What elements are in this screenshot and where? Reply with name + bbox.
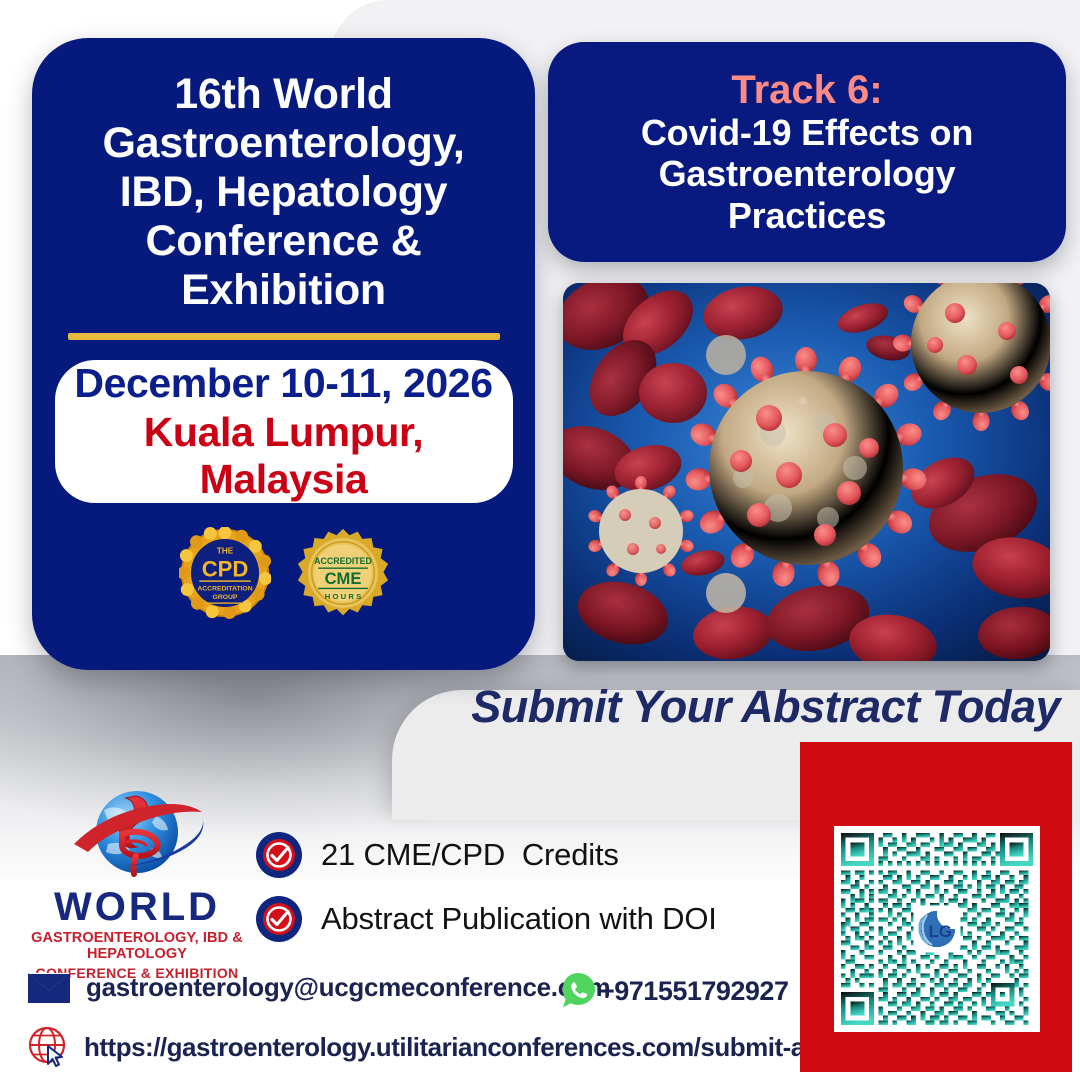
svg-text:H O U R S: H O U R S (324, 592, 360, 601)
website-url: https://gastroenterology.utilitarianconf… (84, 1032, 888, 1063)
email-address: gastroenterology@ucgcmeconference.com (86, 972, 610, 1003)
globe-cursor-icon (28, 1026, 70, 1068)
feature-label: 21 CME/CPD Credits (321, 837, 619, 873)
check-circle-icon (255, 895, 303, 943)
svg-text:LG: LG (929, 922, 952, 941)
svg-text:GROUP: GROUP (212, 594, 237, 601)
submit-abstract-cta: Submit Your Abstract Today (440, 678, 1060, 736)
globe-stomach-icon (64, 782, 210, 890)
check-circle-icon (255, 831, 303, 879)
conference-main-card: 16th World Gastroenterology, IBD, Hepato… (32, 38, 535, 670)
track-number-label: Track 6: (562, 68, 1052, 112)
logo-wordmark: WORLD (14, 888, 260, 927)
gold-divider (68, 333, 500, 340)
qr-code-graphic: LG (841, 833, 1033, 1025)
qr-code[interactable]: LG (834, 826, 1040, 1032)
conference-location: Kuala Lumpur, Malaysia (55, 409, 513, 503)
svg-text:THE: THE (216, 547, 233, 556)
conference-date: December 10-11, 2026 (74, 360, 492, 407)
whatsapp-icon (560, 972, 596, 1010)
feature-label: Abstract Publication with DOI (321, 901, 717, 937)
phone-contact[interactable]: +971551792927 (560, 972, 788, 1010)
virus-image (563, 283, 1050, 661)
cme-hours-badge: ACCREDITED CME H O U R S (297, 527, 389, 619)
qr-panel: LG (800, 742, 1072, 1072)
phone-number: +971551792927 (599, 976, 788, 1007)
date-location-card: December 10-11, 2026 Kuala Lumpur, Malay… (55, 360, 513, 503)
svg-text:CME: CME (324, 569, 361, 588)
track-title: Covid-19 Effects on Gastroenterology Pra… (562, 112, 1052, 235)
envelope-icon (28, 973, 70, 1003)
list-item: Abstract Publication with DOI (255, 887, 717, 951)
website-contact[interactable]: https://gastroenterology.utilitarianconf… (28, 1026, 888, 1068)
logo-subtitle-primary: GASTROENTEROLOGY, IBD & HEPATOLOGY (14, 930, 260, 962)
accreditation-badges: THE CPD ACCREDITATION GROUP ACCREDITED (54, 527, 513, 619)
feature-list: 21 CME/CPD Credits Abstract Publication … (255, 823, 717, 951)
email-contact[interactable]: gastroenterology@ucgcmeconference.com (28, 972, 610, 1003)
organization-logo: WORLD GASTROENTEROLOGY, IBD & HEPATOLOGY… (14, 782, 260, 960)
svg-text:CPD: CPD (201, 557, 248, 582)
list-item: 21 CME/CPD Credits (255, 823, 717, 887)
track-card: Track 6: Covid-19 Effects on Gastroenter… (548, 42, 1066, 262)
svg-text:ACCREDITATION: ACCREDITATION (197, 586, 252, 593)
svg-text:ACCREDITED: ACCREDITED (314, 556, 372, 566)
cpd-accreditation-badge: THE CPD ACCREDITATION GROUP (179, 527, 271, 619)
page-title: 16th World Gastroenterology, IBD, Hepato… (54, 70, 513, 315)
